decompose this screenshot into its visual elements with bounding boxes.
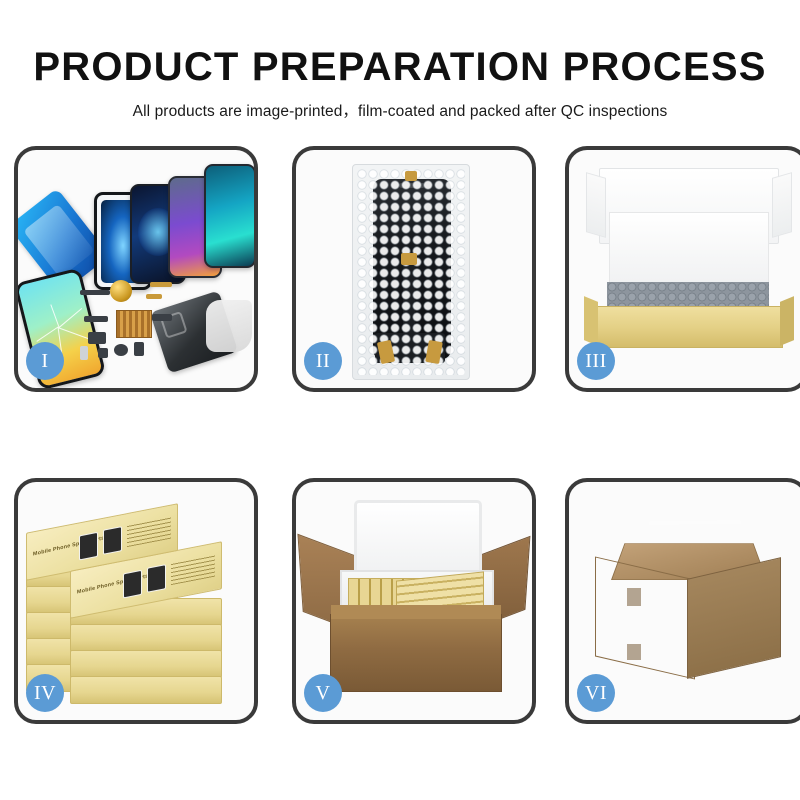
- small-part-graphic: [88, 332, 106, 344]
- bubble-wrap-bag-graphic: [352, 164, 470, 380]
- carton-tape-tab-graphic: [627, 588, 641, 606]
- small-part-graphic: [152, 314, 172, 321]
- step-badge-2: II: [304, 342, 342, 380]
- step-panel-inner-box-packing: III: [565, 146, 800, 392]
- page-subtitle: All products are image-printed，film-coat…: [0, 87, 800, 121]
- step-panel-sealed-carton: VI: [565, 478, 800, 724]
- small-part-graphic: [80, 290, 110, 295]
- small-part-graphic: [98, 348, 108, 358]
- step-panel-carton-loading: V: [292, 478, 536, 724]
- connector-grid-graphic: [116, 310, 152, 338]
- bubble-texture-graphic: [357, 169, 465, 375]
- small-part-graphic: [80, 346, 88, 360]
- product-preparation-infographic: PRODUCT PREPARATION PROCESS All products…: [0, 0, 800, 800]
- step-badge-5: V: [304, 674, 342, 712]
- box-stack-graphic: Mobile Phone Spare Parts Mobile Phone Sp…: [26, 500, 250, 706]
- small-part-graphic: [84, 316, 108, 322]
- step-panel-raw-products: I: [14, 146, 258, 392]
- phone-screen-teal-graphic: [204, 164, 256, 268]
- technician-hand-graphic: [206, 300, 252, 352]
- yellow-box-front-graphic: [595, 306, 783, 348]
- speaker-module-graphic: [110, 280, 132, 302]
- flex-cable-graphic: [150, 282, 172, 287]
- step-badge-4: IV: [26, 674, 64, 712]
- foam-lid-graphic: [354, 500, 482, 578]
- carton-tape-tab-graphic: [627, 644, 641, 660]
- small-part-graphic: [134, 342, 144, 356]
- button-part-graphic: [114, 344, 128, 356]
- step-panel-retail-box-stacking: Mobile Phone Spare Parts Mobile Phone Sp…: [14, 478, 258, 724]
- gold-connector-graphic: [405, 171, 417, 181]
- step-panel-bubble-wrapping: II: [292, 146, 536, 392]
- header: PRODUCT PREPARATION PROCESS All products…: [0, 0, 800, 121]
- gold-connector-graphic: [401, 253, 417, 265]
- foam-sheet-graphic: [609, 212, 769, 288]
- carton-tape-seam-graphic: [649, 520, 742, 525]
- step-badge-3: III: [577, 342, 615, 380]
- page-title: PRODUCT PREPARATION PROCESS: [0, 0, 800, 87]
- sealed-carton-graphic: [593, 516, 783, 676]
- carton-right-face-graphic: [687, 557, 781, 679]
- step-badge-1: I: [26, 342, 64, 380]
- flex-cable-graphic: [146, 294, 162, 299]
- carton-body-graphic: [330, 614, 502, 692]
- process-steps-grid: I II: [14, 146, 786, 724]
- step-badge-6: VI: [577, 674, 615, 712]
